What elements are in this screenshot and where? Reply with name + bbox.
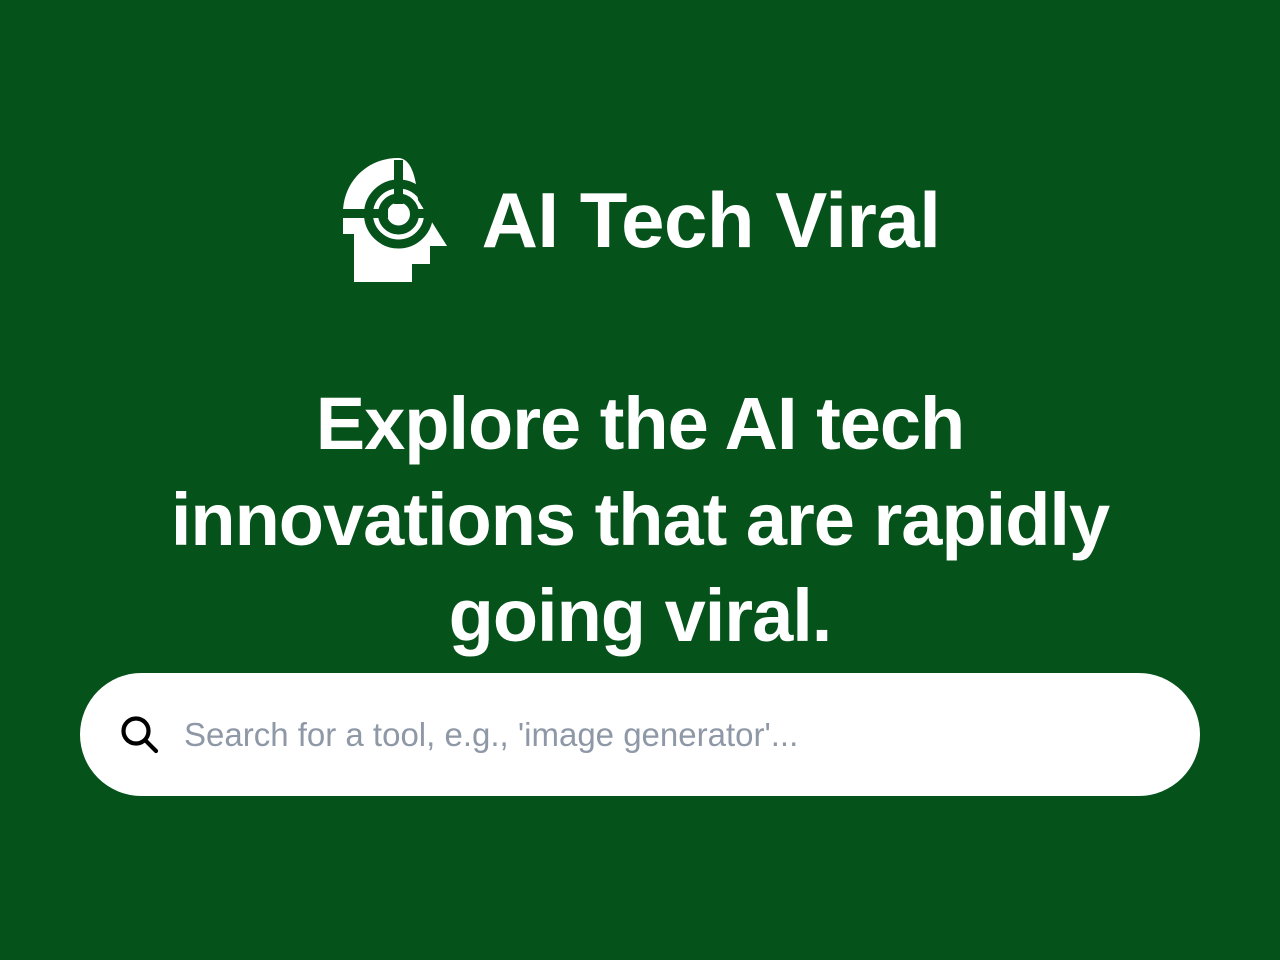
landing-page: AI Tech Viral Explore the AI tech innova… bbox=[0, 0, 1280, 960]
search-icon[interactable] bbox=[118, 713, 162, 757]
headline-line-1: Explore the AI tech bbox=[60, 376, 1220, 472]
search-input[interactable] bbox=[184, 712, 1162, 758]
brand-name: AI Tech Viral bbox=[482, 181, 941, 259]
headline-line-3: going viral. bbox=[60, 568, 1220, 664]
headline-line-2: innovations that are rapidly bbox=[60, 472, 1220, 568]
search-bar[interactable] bbox=[80, 673, 1200, 796]
page-headline: Explore the AI tech innovations that are… bbox=[60, 376, 1220, 664]
ai-head-target-icon bbox=[340, 156, 458, 284]
brand-header: AI Tech Viral bbox=[0, 150, 1280, 290]
